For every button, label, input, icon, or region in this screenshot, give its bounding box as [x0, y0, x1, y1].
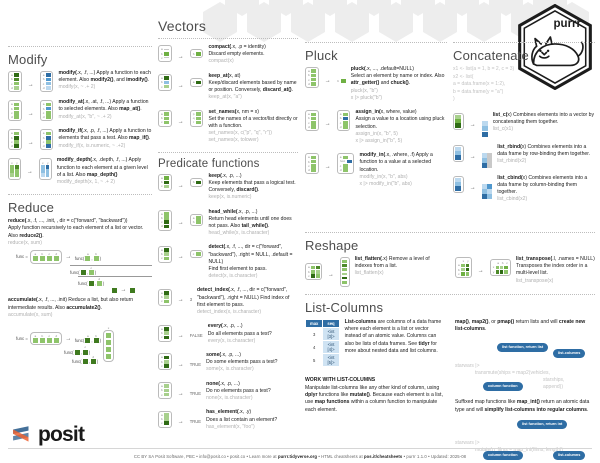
- modify-illustration: abcd → abcd: [8, 70, 53, 92]
- entry-has-element: abc → TRUE has_element(.x, .y) Does a li…: [158, 409, 298, 431]
- fn-args: .x, .p, ...): [223, 323, 243, 329]
- fn-name: keep_at(: [208, 73, 229, 79]
- code-line-4: append)): [543, 384, 563, 392]
- none-illustration: abc → TRUE: [158, 381, 201, 400]
- example-code: modify_in(x, "b", abs): [359, 174, 447, 181]
- list-columns-intro: List-columns are columns of a data frame…: [345, 319, 445, 355]
- map2-annotated-code: starwars |> transmute(ships = map2(vehic…: [455, 337, 595, 389]
- arrow-icon: →: [178, 54, 184, 60]
- fn-name: head_while(: [208, 209, 237, 215]
- fn-name: every(: [208, 323, 223, 329]
- arrow-icon: →: [28, 140, 34, 146]
- fn-name: assign_in(: [355, 109, 380, 115]
- column-modify-reduce: Modify abcd → abcd modify(.x, .f, ...) A…: [8, 0, 152, 367]
- entry-assign-in: abcd → abcd assign_in(x, where, value) A…: [305, 109, 447, 145]
- fn-end: .: [268, 223, 269, 229]
- table-row: 3 <int [3]>: [306, 328, 340, 341]
- col-header-seq: seq: [323, 320, 339, 328]
- divider: [158, 38, 298, 39]
- fn-name: modify_if(: [58, 128, 82, 134]
- arrow-icon: →: [178, 419, 184, 425]
- section-title-predicate: Predicate functions: [158, 158, 298, 170]
- detect-index-illustration: abc → 3: [158, 287, 192, 306]
- fn-map: map(): [455, 319, 469, 325]
- fn-args: .x, .f, ..., .init, , dir = c("forward",…: [26, 218, 127, 224]
- cell-seq: <int [5]>: [323, 354, 339, 367]
- entry-list-cbind: → list_cbind(x) Combines elements into a…: [453, 175, 595, 204]
- arrow-icon: →: [121, 287, 127, 293]
- arrow-icon: →: [328, 272, 334, 278]
- example-code: modify_at(x, "b", ~ .+ 2): [58, 114, 152, 121]
- fn-args: .x, .p, ...): [220, 381, 240, 387]
- compact-illustration: abc → b: [158, 44, 203, 63]
- fn-args: .x, .p, ...): [221, 352, 241, 358]
- fn-name: modify_in(: [359, 152, 385, 158]
- example-code-2: x |> assign_in("b", 5): [355, 138, 447, 145]
- example-code: list_c(x1): [493, 126, 595, 133]
- list-flatten-illustration: abc →: [305, 256, 350, 287]
- fn-end: .: [101, 305, 102, 311]
- fn-alt: modify2(): [90, 77, 113, 83]
- result-value: TRUE: [190, 419, 201, 424]
- modify-at-illustration: abcd → abcd: [8, 99, 53, 121]
- fn-alt2: imodify(): [126, 77, 148, 83]
- example-code: modify_if(x, is.numeric, ~ .+2): [58, 143, 152, 150]
- example-code: set_names(x, c("p", "q", "r")): [208, 130, 298, 137]
- cell-seq: <int [3]>: [323, 328, 339, 341]
- example-code: list_rbind(x2): [497, 158, 595, 165]
- section-title-list-columns: List-Columns: [305, 300, 595, 315]
- section-title-concatenate: Concatenate: [453, 48, 595, 63]
- fn-alt: reduce2(): [19, 233, 42, 239]
- entry-modify-in: abcd → afunccd modify_in(.x, .where, .f)…: [305, 152, 447, 188]
- fn-end: .: [409, 80, 410, 86]
- every-illustration: abc → FALSE: [158, 323, 203, 342]
- func-call-2: func(,c): [70, 267, 96, 275]
- some-illustration: abc → TRUE: [158, 352, 201, 371]
- arrow-icon: →: [325, 121, 331, 127]
- fn-end: .: [149, 135, 150, 141]
- fn-pmap: pmap(): [497, 319, 514, 325]
- fn-name: list_rbind(: [497, 144, 522, 150]
- work-text-2: functions like: [317, 392, 349, 398]
- table-header-row: max seq: [306, 320, 340, 328]
- text-pre: Suffixed map functions like: [455, 399, 517, 405]
- arrow-icon: →: [65, 336, 71, 342]
- table-row: 5 <int [5]>: [306, 354, 340, 367]
- work-with-body: Manipulate list-columns like any other k…: [305, 385, 445, 414]
- section-reshape: Reshape abc → list_flatten(.x) Remove a …: [305, 228, 595, 294]
- fn-end: .: [292, 87, 293, 93]
- footer-updated: Updated: 2025-08: [431, 454, 466, 459]
- cell-max: 4: [306, 341, 323, 354]
- fn-map2: map2(): [472, 319, 489, 325]
- result-cell: [112, 288, 117, 293]
- fn-name: set_names(: [208, 109, 236, 115]
- fn-desc: Assign a value to a location using pluck…: [355, 116, 447, 130]
- example-code: modify(x, ~ .+ 2): [58, 84, 152, 91]
- fn-name: some(: [206, 352, 221, 358]
- func-label: func =: [16, 254, 28, 259]
- fn-name: list_cbind(: [497, 175, 522, 181]
- footer-site[interactable]: posit.co: [230, 454, 245, 459]
- fn-args: .l, .names = NULL): [552, 256, 595, 262]
- fn-args: .x, .p, ...): [222, 173, 242, 179]
- entry-list-flatten: abc → list_flatten(.x) Remove a level of…: [305, 256, 445, 287]
- fn-sep: , and: [113, 77, 126, 83]
- fn-name: list_flatten(: [355, 256, 382, 262]
- example-code: modify_depth(x, 1, ~ .+ 2): [57, 179, 152, 186]
- cheatsheet-page: purrr Modify abcd → abcd: [0, 0, 600, 463]
- entry-modify-at: abcd → abcd modify_at(.x, .at, .f, ...) …: [8, 99, 152, 121]
- example-code: list_flatten(x): [355, 270, 445, 277]
- work-bold-3: map functions: [315, 399, 350, 405]
- entry-none: abc → TRUE none(.x, .p, ...) Do no eleme…: [158, 381, 298, 403]
- fn-name: pluck(: [351, 66, 366, 72]
- example-code: none(x, is.character): [206, 395, 298, 402]
- modify-if-illustration: abcd → abcd: [8, 128, 53, 150]
- divider: [453, 42, 595, 43]
- preamble-line: b = data.frame(y = "a"): [453, 89, 595, 97]
- fn-alt: map_depth(): [87, 172, 118, 178]
- result-value: TRUE: [190, 391, 201, 396]
- list-c-illustration: →: [453, 112, 488, 137]
- fn-name: modify(: [58, 70, 76, 76]
- pill-column-function: column function: [483, 382, 523, 391]
- arrow-icon: →: [470, 154, 476, 160]
- fn-desc: Transposes the index order in a multi-le…: [516, 263, 595, 277]
- entry-detect: abc → c detect(.x, .f, ..., dir = c("for…: [158, 244, 298, 280]
- arrow-icon: →: [28, 111, 34, 117]
- fn-name: modify_at(: [58, 99, 84, 105]
- section-title-reshape: Reshape: [305, 238, 595, 253]
- posit-mark-icon: [12, 424, 34, 446]
- preamble-line: ): [453, 96, 595, 104]
- arrow-icon: →: [28, 82, 34, 88]
- arrow-icon: →: [65, 254, 71, 260]
- result-value: TRUE: [190, 362, 201, 367]
- fn-name: list_c(: [493, 112, 508, 118]
- example-code-2: x |> modify_in("b", abs): [359, 181, 447, 188]
- fn-name: accumulate(: [8, 297, 38, 303]
- entry-list-transpose: xyabc → abcxy list_transpose(.l, .names …: [455, 256, 595, 287]
- fn-name: list_transpose(: [516, 256, 552, 262]
- set-names-illustration: abc → pqr: [158, 109, 203, 128]
- posit-wordmark: posit: [38, 423, 84, 447]
- section-title-modify: Modify: [8, 52, 152, 67]
- example-code: keep(x, is.numeric): [208, 194, 298, 201]
- fn-end: .: [42, 233, 43, 239]
- func-call-2: func(,c): [64, 346, 90, 354]
- fn-end: .: [258, 187, 259, 193]
- fn-name: detect(: [208, 244, 225, 250]
- keep-at-illustration: abc → a: [158, 73, 203, 92]
- work-text-1: Manipulate list-columns like any other k…: [305, 385, 439, 391]
- input-list: a b c d: [30, 332, 62, 345]
- fn-args: x, where, value): [381, 109, 417, 115]
- footer: CC BY SA Posit Software, PBC • info@posi…: [0, 454, 600, 459]
- output-list: [103, 330, 114, 362]
- list-transpose-illustration: xyabc → abcxy: [455, 256, 511, 278]
- fn-alt: attr_getter(): [351, 80, 380, 86]
- arrow-icon: →: [178, 333, 184, 339]
- arrow-icon: →: [178, 254, 184, 260]
- entry-modify: abcd → abcd modify(.x, .f, ...) Apply a …: [8, 70, 152, 92]
- result-value: FALSE: [190, 333, 203, 338]
- footer-learn-pre: Learn more at: [249, 454, 278, 459]
- posit-logo: posit: [12, 423, 84, 447]
- example-code: list_cbind(x2): [497, 196, 595, 203]
- arrow-icon: →: [470, 122, 476, 128]
- divider: [305, 42, 447, 43]
- fn-name: modify_depth(: [57, 157, 92, 163]
- fn-sep: and: [379, 80, 390, 86]
- map-returns-lists-text: map(), map2(), or pmap() return lists an…: [455, 319, 595, 333]
- fn-map-int: map_int(): [517, 399, 540, 405]
- preamble-line: x1 <- list(a = 1, b = 2, c = 3): [453, 66, 595, 74]
- concatenate-preamble: x1 <- list(a = 1, b = 2, c = 3) x2 <- li…: [453, 66, 595, 104]
- entry-modify-if: abcd → abcd modify_if(.x, .p, .f, ...) A…: [8, 128, 152, 150]
- fn-desc: Set the names of a vector/list directly …: [208, 116, 298, 130]
- fn-args: x, at): [229, 73, 240, 79]
- modify-depth-illustration: xy → xy: [8, 157, 52, 179]
- fn-desc: Find first element to pass.: [208, 266, 298, 273]
- list-cbind-illustration: →: [453, 175, 492, 199]
- column-pluck: Pluck abcd → b pluck(.x, ..., .default=N…: [305, 0, 447, 195]
- fn-alt: map_if(): [129, 135, 149, 141]
- footer-html-link[interactable]: pos.it/cheatsheets: [364, 454, 402, 459]
- section-title-reduce: Reduce: [8, 200, 152, 215]
- entry-reduce: reduce(.x, .f, ..., .init, , dir = c("fo…: [8, 218, 152, 247]
- entry-keep: abc → b keep(.x, .p, ...) Keep elements …: [158, 173, 298, 202]
- col-header-max: max: [306, 320, 323, 328]
- fn-desc: Do all elements pass a test?: [208, 331, 298, 338]
- example-code-2: set_names(x, tolower): [208, 137, 298, 144]
- cell-max: 3: [306, 328, 323, 341]
- fn-args: .x, .y): [239, 409, 251, 415]
- arrow-icon: →: [178, 119, 184, 125]
- list-columns-table: max seq 3 <int [3]> 4 <int [4]> 5: [305, 319, 340, 367]
- pill-list-function-return-list: list function, return list: [497, 343, 548, 352]
- keep-illustration: abc → b: [158, 173, 203, 192]
- fn-name: compact(: [208, 44, 231, 50]
- example-code: every(x, is.character): [208, 338, 298, 345]
- example-code: list_transpose(x): [516, 278, 595, 285]
- example-code: pluck(x, "b"): [351, 88, 447, 95]
- entry-list-rbind: → list_rbind(x) Combines elements into a…: [453, 144, 595, 168]
- fn-args: .x, .p, ...): [238, 209, 258, 215]
- fn-name: reduce(: [8, 218, 26, 224]
- sep: , or: [488, 319, 497, 325]
- work-with-heading: WORK WITH LIST-COLUMNS: [305, 377, 445, 383]
- head-while-illustration: abcd → ab: [158, 209, 203, 231]
- result-value: 3: [190, 297, 192, 302]
- arrow-icon: →: [470, 185, 476, 191]
- pill-list-function-return-int: list function, return int: [517, 420, 567, 429]
- fn-name: has_element(: [206, 409, 239, 415]
- entry-some: abc → TRUE some(.x, .p, ...) Do some ele…: [158, 352, 298, 374]
- example-code: reduce(x, sum): [8, 240, 152, 247]
- fn-name: detect_index(: [197, 287, 230, 293]
- fn-name: keep(: [208, 173, 221, 179]
- entry-every: abc → FALSE every(.x, .p, ...) Do all el…: [158, 323, 298, 345]
- fn-desc: Select an element by name or index. Also: [351, 73, 445, 79]
- entry-list-c: → list_c(x) Combines elements into a vec…: [453, 112, 595, 137]
- cell-seq: <int [4]>: [323, 341, 339, 354]
- footer-email[interactable]: info@posit.co: [199, 454, 226, 459]
- example-code: some(x, is.character): [206, 366, 298, 373]
- table-row: 4 <int [4]>: [306, 341, 340, 354]
- fn-alt: tail_while(): [242, 223, 268, 229]
- cell-max: 5: [306, 354, 323, 367]
- example-code: detect(x, is.character): [208, 273, 298, 280]
- func-label: func =: [16, 336, 28, 341]
- fn-alt: accumulate2(): [66, 305, 100, 311]
- entry-detect-index: abc → 3 detect_index(.x, .f, ..., dir = …: [158, 287, 298, 316]
- fn-args: x, nm = x): [237, 109, 260, 115]
- section-title-pluck: Pluck: [305, 48, 447, 63]
- fn-desc: Do some elements pass a test?: [206, 359, 298, 366]
- fn-desc: Does a list contain an element?: [206, 417, 298, 424]
- arrow-icon: →: [178, 183, 184, 189]
- divider: [305, 232, 595, 233]
- assign-in-illustration: abcd → abcd: [305, 109, 350, 131]
- detect-illustration: abc → c: [158, 244, 203, 263]
- fn-args: .x, .p = identity): [231, 44, 266, 50]
- func-call-1: func(a,b): [75, 253, 101, 261]
- arrow-icon: →: [178, 391, 184, 397]
- column-vectors-predicates: Vectors abc → b compact(.x, .p = identit…: [158, 0, 298, 438]
- intro-pkg: tidyr: [419, 341, 430, 347]
- fn-end: .: [148, 77, 149, 83]
- footer-divider: [8, 448, 592, 449]
- emph: simplify list-columns into regular colum…: [484, 407, 586, 413]
- fn-end: .: [140, 106, 141, 112]
- fn-alt2: chuck(): [391, 80, 409, 86]
- entry-modify-depth: xy → xy modify_depth(.x, .depth, .f, ...…: [8, 157, 152, 186]
- code-line-2: transmute(ships = map2(vehicles,: [475, 370, 550, 378]
- list-rbind-illustration: →: [453, 144, 492, 168]
- fn-alt: discard(): [236, 187, 258, 193]
- footer-html-pre: HTML cheatsheets at: [321, 454, 364, 459]
- text-post: .: [587, 407, 588, 413]
- fn-desc: Do no elements pass a test?: [206, 388, 298, 395]
- example-code-2: x |> pluck("b"): [351, 95, 447, 102]
- modify-in-illustration: abcd → afunccd: [305, 152, 354, 174]
- entry-head-while: abcd → ab head_while(.x, .p, ...) Return…: [158, 209, 298, 238]
- entry-pluck: abcd → b pluck(.x, ..., .default=NULL) S…: [305, 66, 447, 102]
- pluck-illustration: abcd → b: [305, 66, 346, 88]
- arrow-icon: →: [178, 220, 184, 226]
- example-code: compact(x): [208, 58, 298, 65]
- divider: [158, 152, 298, 153]
- footer-version: purrr 1.1.0: [406, 454, 426, 459]
- result-cell: [130, 288, 135, 293]
- example-code: has_element(x, "foo"): [206, 424, 298, 431]
- entry-accumulate: accumulate(.x, .f, ..., .init) Reduce a …: [8, 297, 152, 319]
- example-code: head_while(x, is.character): [208, 230, 298, 237]
- text: return lists and will: [514, 319, 559, 325]
- fn-alt: discard_at(): [263, 87, 292, 93]
- arrow-icon: →: [325, 164, 331, 170]
- arrow-icon: →: [325, 78, 331, 84]
- arrow-icon: →: [178, 362, 184, 368]
- accumulate-diagram: func = a b c d → func(a,b) func(,c): [16, 322, 152, 365]
- fn-args: x) Combines elements into a vector by co…: [493, 112, 594, 125]
- arrow-icon: →: [478, 268, 484, 274]
- preamble-line: a = data.frame(x = 1:2),: [453, 81, 595, 89]
- section-title-vectors: Vectors: [158, 18, 298, 34]
- divider: [8, 194, 152, 195]
- input-list: a b c d: [30, 250, 62, 263]
- text-end: .: [485, 326, 486, 332]
- example-code: detect_index(x, is.character): [197, 309, 298, 316]
- arrow-icon: →: [178, 83, 184, 89]
- divider: [305, 294, 595, 295]
- func-call-3: func(,d): [78, 278, 104, 286]
- column-concatenate: Concatenate x1 <- list(a = 1, b = 2, c =…: [453, 0, 595, 210]
- fn-alt: map_at(): [119, 106, 140, 112]
- divider: [8, 46, 152, 47]
- example-code: keep_at(x, "a"): [208, 94, 298, 101]
- entry-compact: abc → b compact(.x, .p = identity) Disca…: [158, 44, 298, 66]
- preamble-line: x2 <- list(: [453, 74, 595, 82]
- func-call-1: func(a,b): [75, 335, 101, 343]
- entry-set-names: abc → pqr set_names(x, nm = x) Set the n…: [158, 109, 298, 145]
- arrow-icon: →: [27, 169, 33, 175]
- pill-list-columns: list-columns: [553, 349, 585, 358]
- example-code: accumulate(x, sum): [8, 312, 152, 319]
- section-list-columns: List-Columns max seq 3 <int [3]>: [305, 290, 595, 460]
- reduce-diagram: func = a b c d → func(a,b) func(,c) func…: [16, 250, 152, 293]
- arrow-icon: →: [178, 297, 184, 303]
- fn-name: none(: [206, 381, 220, 387]
- fn-args: .x, ..., .default=NULL): [366, 66, 414, 72]
- footer-learn-link[interactable]: purrr.tidyverse.org: [278, 454, 317, 459]
- map-int-text: Suffixed map functions like map_int() re…: [455, 399, 595, 413]
- has-element-illustration: abc → TRUE: [158, 409, 201, 428]
- intro-term: List-columns: [345, 319, 377, 325]
- entry-keep-at: abc → a keep_at(x, at) Keep/discard elem…: [158, 73, 298, 102]
- example-code: assign_in(x, "b", 5): [355, 131, 447, 138]
- fn-desc: Discard empty elements.: [208, 51, 298, 58]
- func-call-3: func(,d): [72, 356, 98, 364]
- work-bold-1: dplyr: [305, 392, 317, 398]
- work-bold-2: mutate(): [350, 392, 370, 398]
- footer-license: CC BY SA Posit Software, PBC: [134, 454, 195, 459]
